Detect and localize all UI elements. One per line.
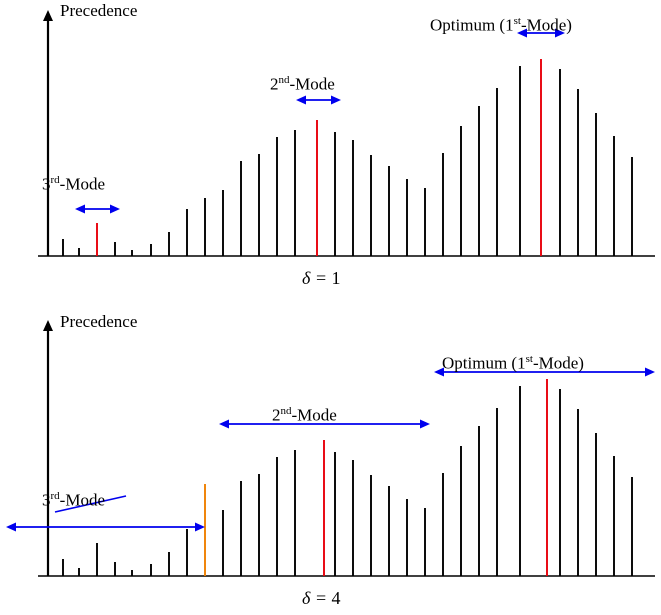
second-mode-sup-bottom: nd: [281, 405, 292, 417]
second-mode-range-arrow-head-left: [296, 96, 306, 105]
y-axis-label-bottom: Precedence: [60, 312, 137, 332]
third-mode-range-arrow-head-right: [110, 205, 120, 214]
second-mode-label-top: 2nd-Mode: [270, 74, 335, 95]
third-mode-text-bottom: 3: [42, 491, 51, 510]
optimum-label-suffix-bottom: -Mode): [533, 354, 584, 373]
third-mode-label-bottom: 3rd-Mode: [42, 490, 105, 511]
optimum-label-sup-bottom: st: [526, 353, 533, 365]
third-mode-sup-top: rd: [51, 174, 60, 186]
second-mode-text-bottom: 2: [272, 406, 281, 425]
second-mode-range-arrow-head-left: [219, 420, 229, 429]
delta-value-top: 1: [332, 268, 341, 288]
third-mode-suffix-bottom: -Mode: [60, 491, 105, 510]
second-mode-suffix-top: -Mode: [290, 75, 335, 94]
second-mode-range-arrow-head-right: [420, 420, 430, 429]
third-mode-label-top: 3rd-Mode: [42, 174, 105, 195]
panel-delta-4: Precedence Optimum (1st-Mode) 2nd-Mode 3…: [0, 300, 661, 615]
third-mode-sup-bottom: rd: [51, 490, 60, 502]
axis-group: [38, 10, 655, 256]
third-mode-suffix-top: -Mode: [60, 175, 105, 194]
optimum-range-arrow-head-right: [645, 368, 655, 377]
panel-delta-1: Precedence Optimum (1st-Mode) 2nd-Mode 3…: [0, 0, 661, 300]
y-axis-arrowhead: [43, 10, 53, 21]
optimum-first-mode-label-top: Optimum (1st-Mode): [430, 15, 572, 36]
third-mode-range-arrow-head-right: [195, 523, 205, 532]
delta-value-bottom: 4: [332, 588, 341, 608]
optimum-label-sup-top: st: [514, 15, 521, 27]
optimum-label-text-top: Optimum (1: [430, 16, 514, 35]
precedence-plot-delta-4: [0, 300, 661, 615]
second-mode-label-bottom: 2nd-Mode: [272, 405, 337, 426]
y-axis-label-top: Precedence: [60, 1, 137, 21]
delta-caption-top: δ = 1: [302, 268, 341, 289]
third-mode-text-top: 3: [42, 175, 51, 194]
second-mode-sup-top: nd: [279, 74, 290, 86]
second-mode-suffix-bottom: -Mode: [292, 406, 337, 425]
bars-group: [63, 59, 632, 256]
precedence-plot-delta-1: [0, 0, 661, 300]
delta-prefix-bottom: δ =: [302, 588, 332, 608]
optimum-label-suffix-top: -Mode): [521, 16, 572, 35]
third-mode-range-arrow-head-left: [6, 523, 16, 532]
y-axis-arrowhead: [43, 320, 53, 331]
second-mode-text-top: 2: [270, 75, 279, 94]
optimum-label-text-bottom: Optimum (1: [442, 354, 526, 373]
arrows-group: [75, 29, 565, 214]
optimum-first-mode-label-bottom: Optimum (1st-Mode): [442, 353, 584, 374]
third-mode-range-arrow-head-left: [75, 205, 85, 214]
delta-prefix-top: δ =: [302, 268, 332, 288]
delta-caption-bottom: δ = 4: [302, 588, 341, 609]
second-mode-range-arrow-head-right: [331, 96, 341, 105]
bars-group: [63, 379, 632, 576]
